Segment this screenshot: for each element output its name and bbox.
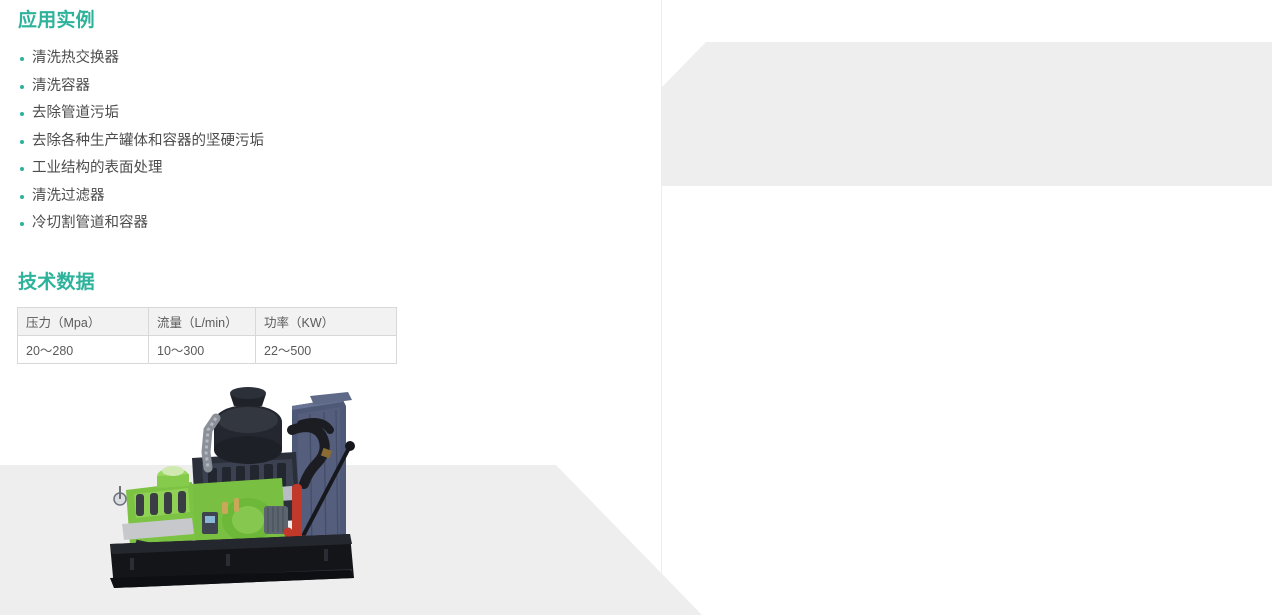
left-column: 应用实例 清洗热交换器 清洗容器 去除管道污垢 去除各种生产罐体和容器的坚硬污垢… — [0, 0, 661, 615]
cn-technical-data-table: 压力（Mpa） 流量（L/min） 功率（KW） 20～280 10～300 2… — [17, 307, 397, 364]
cn-application-examples-list: 清洗热交换器 清洗容器 去除管道污垢 去除各种生产罐体和容器的坚硬污垢 工业结构… — [18, 45, 618, 238]
bullet-dot-icon — [20, 167, 24, 171]
list-item: 去除各种生产罐体和容器的坚硬污垢 — [18, 128, 618, 156]
cn-application-examples-heading: 应用实例 — [18, 10, 95, 32]
list-item: 去除管道污垢 — [18, 100, 618, 128]
cell-power-value: 22～500 — [256, 336, 397, 364]
column-header-power: 功率（KW） — [256, 308, 397, 336]
list-item: 冷切割管道和容器 — [18, 210, 618, 238]
cell-flow-value: 10～300 — [149, 336, 256, 364]
list-item-label: 去除管道污垢 — [32, 105, 119, 121]
bullet-dot-icon — [20, 57, 24, 61]
cell-pressure-value: 20～280 — [18, 336, 149, 364]
list-item-label: 清洗过滤器 — [32, 188, 105, 204]
list-item-label: 清洗容器 — [32, 78, 90, 94]
bullet-dot-icon — [20, 222, 24, 226]
brochure-page: 应用实例 清洗热交换器 清洗容器 去除管道污垢 去除各种生产罐体和容器的坚硬污垢… — [0, 0, 1272, 615]
list-item: 清洗热交换器 — [18, 45, 618, 73]
list-item-label: 去除各种生产罐体和容器的坚硬污垢 — [32, 133, 264, 149]
bullet-dot-icon — [20, 112, 24, 116]
bullet-dot-icon — [20, 195, 24, 199]
bullet-dot-icon — [20, 140, 24, 144]
list-item: 工业结构的表面处理 — [18, 155, 618, 183]
list-item-label: 清洗热交换器 — [32, 50, 119, 66]
column-header-flow: 流量（L/min） — [149, 308, 256, 336]
table-header-row: 压力（Mpa） 流量（L/min） 功率（KW） — [18, 308, 397, 336]
list-item-label: 工业结构的表面处理 — [32, 160, 163, 176]
table-row: 20～280 10～300 22～500 — [18, 336, 397, 364]
bullet-dot-icon — [20, 85, 24, 89]
right-column: hydro — [661, 0, 1272, 615]
list-item: 清洗过滤器 — [18, 183, 618, 211]
list-item: 清洗容器 — [18, 73, 618, 101]
cn-technical-data-heading: 技术数据 — [18, 272, 95, 294]
skid-mounted-pump-unit-image — [96, 372, 406, 600]
column-header-pressure: 压力（Mpa） — [18, 308, 149, 336]
list-item-label: 冷切割管道和容器 — [32, 215, 148, 231]
